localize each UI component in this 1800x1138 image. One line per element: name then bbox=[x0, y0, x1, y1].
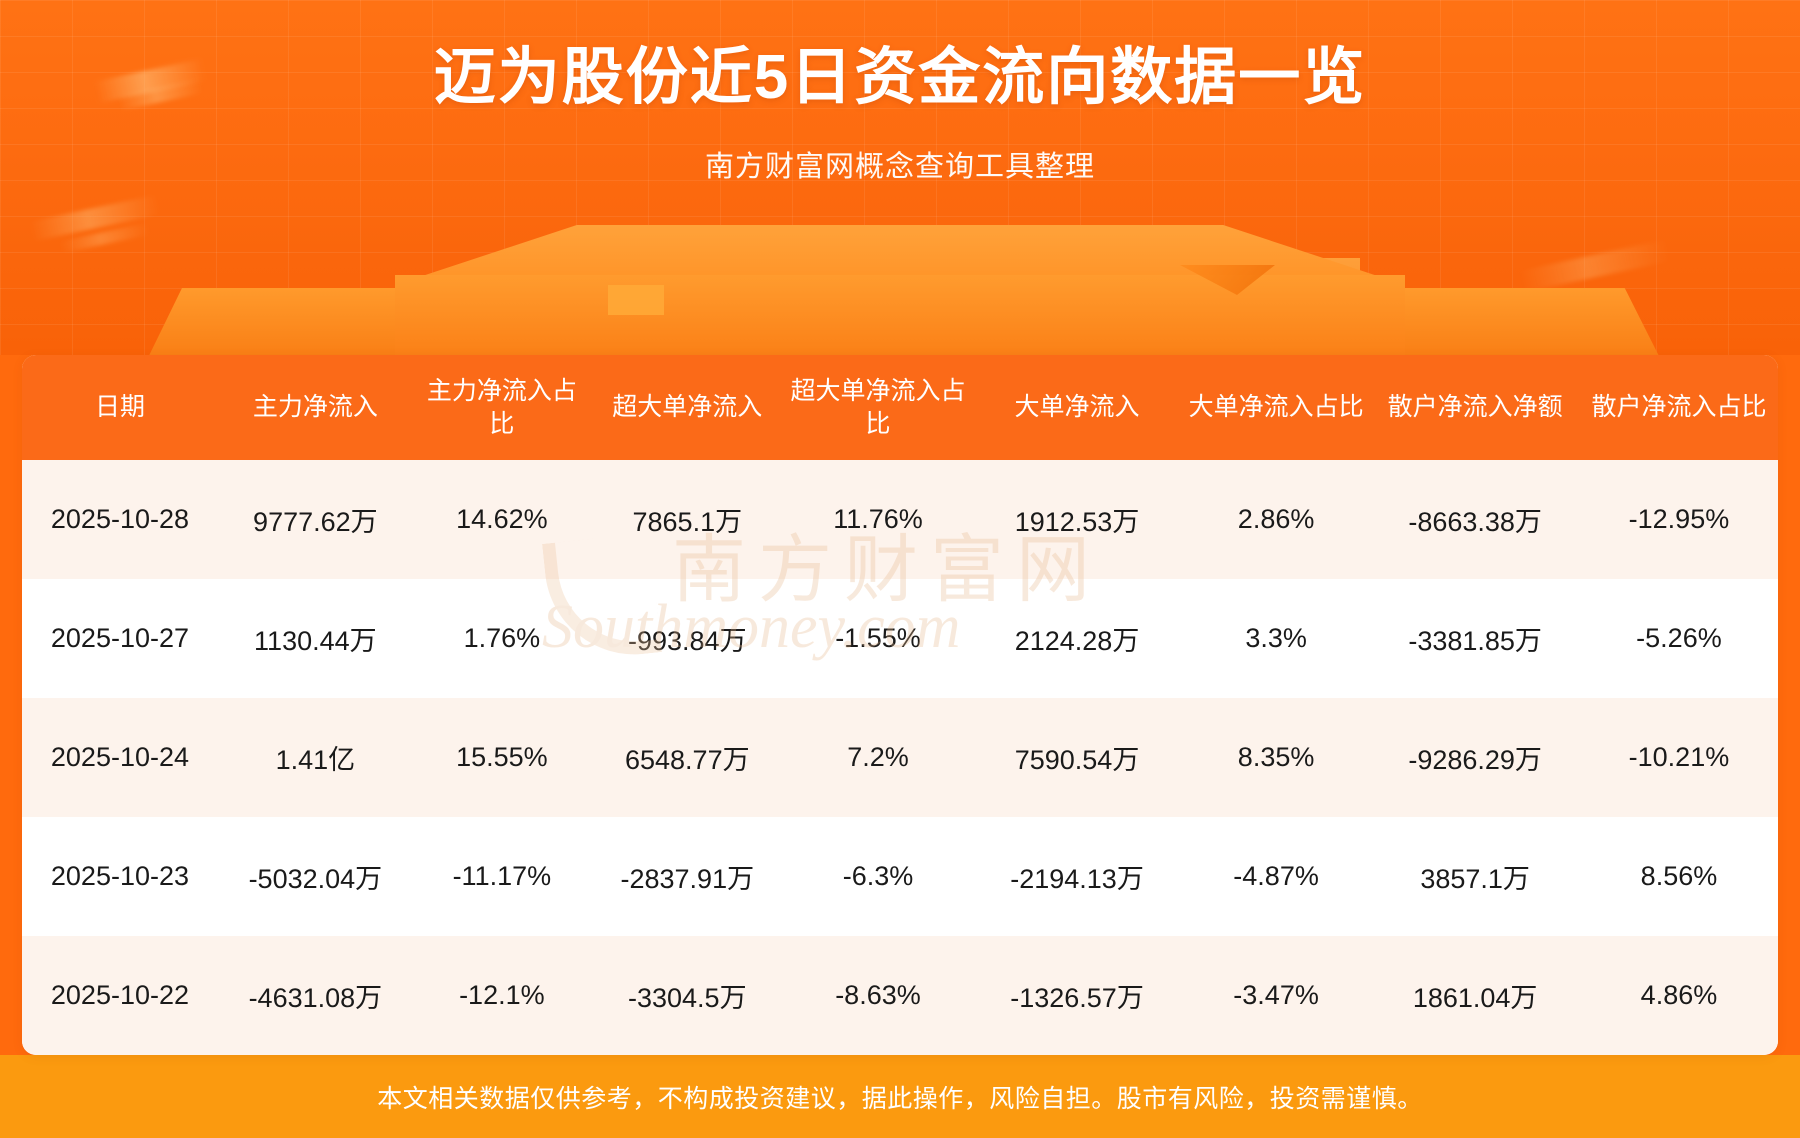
cell-super-large-net-inflow-pct: -8.63% bbox=[784, 936, 973, 1055]
column-header-main-net-inflow: 主力净流入 bbox=[218, 355, 413, 460]
column-header-super-large-net-inflow-pct: 超大单净流入占比 bbox=[784, 355, 973, 460]
cell-date: 2025-10-28 bbox=[22, 460, 218, 579]
cell-main-net-inflow-pct: 1.76% bbox=[413, 579, 591, 698]
podium-top-face bbox=[395, 275, 1405, 355]
cell-main-net-inflow-pct: -12.1% bbox=[413, 936, 591, 1055]
cell-main-net-inflow-pct: 14.62% bbox=[413, 460, 591, 579]
podium-block-right bbox=[1355, 288, 1665, 355]
cell-main-net-inflow: -4631.08万 bbox=[218, 936, 413, 1055]
table-row: 2025-10-28 9777.62万 14.62% 7865.1万 11.76… bbox=[22, 460, 1778, 579]
cell-super-large-net-inflow-pct: 7.2% bbox=[784, 698, 973, 817]
column-header-retail-net-inflow: 散户净流入净额 bbox=[1370, 355, 1580, 460]
cell-retail-net-inflow: -8663.38万 bbox=[1370, 460, 1580, 579]
cell-super-large-net-inflow: -993.84万 bbox=[591, 579, 784, 698]
column-header-super-large-net-inflow: 超大单净流入 bbox=[591, 355, 784, 460]
cell-main-net-inflow: -5032.04万 bbox=[218, 817, 413, 936]
table-header: 日期 主力净流入 主力净流入占比 超大单净流入 超大单净流入占比 大单净流入 大… bbox=[22, 355, 1778, 460]
cell-super-large-net-inflow: -2837.91万 bbox=[591, 817, 784, 936]
cell-large-net-inflow: 1912.53万 bbox=[972, 460, 1182, 579]
table-row: 2025-10-24 1.41亿 15.55% 6548.77万 7.2% 75… bbox=[22, 698, 1778, 817]
data-table-card: 南方财富网 Southmoney.com 日期 主力净流入 主力净流入占比 超大… bbox=[22, 355, 1778, 1055]
cell-super-large-net-inflow-pct: -6.3% bbox=[784, 817, 973, 936]
column-header-retail-net-inflow-pct: 散户净流入占比 bbox=[1580, 355, 1778, 460]
cell-large-net-inflow-pct: 2.86% bbox=[1182, 460, 1371, 579]
cell-large-net-inflow: -1326.57万 bbox=[972, 936, 1182, 1055]
cell-date: 2025-10-22 bbox=[22, 936, 218, 1055]
podium-notch-decoration bbox=[608, 285, 664, 315]
cell-retail-net-inflow: 1861.04万 bbox=[1370, 936, 1580, 1055]
footer-bar: 本文相关数据仅供参考，不构成投资建议，据此操作，风险自担。股市有风险，投资需谨慎… bbox=[0, 1055, 1800, 1138]
table-row: 2025-10-27 1130.44万 1.76% -993.84万 -1.55… bbox=[22, 579, 1778, 698]
cell-large-net-inflow-pct: 3.3% bbox=[1182, 579, 1371, 698]
cell-large-net-inflow-pct: 8.35% bbox=[1182, 698, 1371, 817]
cell-large-net-inflow-pct: -4.87% bbox=[1182, 817, 1371, 936]
light-streak-decoration bbox=[60, 223, 151, 253]
cell-large-net-inflow: 2124.28万 bbox=[972, 579, 1182, 698]
cell-super-large-net-inflow-pct: -1.55% bbox=[784, 579, 973, 698]
podium-block-left bbox=[143, 288, 443, 355]
podium-top-bevel bbox=[395, 225, 1405, 285]
column-header-large-net-inflow: 大单净流入 bbox=[972, 355, 1182, 460]
cell-date: 2025-10-23 bbox=[22, 817, 218, 936]
page-title: 迈为股份近5日资金流向数据一览 bbox=[0, 42, 1800, 113]
fund-flow-table: 日期 主力净流入 主力净流入占比 超大单净流入 超大单净流入占比 大单净流入 大… bbox=[22, 355, 1778, 1055]
cell-large-net-inflow-pct: -3.47% bbox=[1182, 936, 1371, 1055]
podium-block-mid-right bbox=[1190, 258, 1360, 355]
column-header-date: 日期 bbox=[22, 355, 218, 460]
cell-large-net-inflow: -2194.13万 bbox=[972, 817, 1182, 936]
column-header-main-net-inflow-pct: 主力净流入占比 bbox=[413, 355, 591, 460]
cell-retail-net-inflow-pct: -5.26% bbox=[1580, 579, 1778, 698]
cell-retail-net-inflow-pct: -10.21% bbox=[1580, 698, 1778, 817]
podium-block-mid-left bbox=[580, 285, 735, 355]
cell-main-net-inflow: 1.41亿 bbox=[218, 698, 413, 817]
cell-main-net-inflow: 9777.62万 bbox=[218, 460, 413, 579]
cell-large-net-inflow: 7590.54万 bbox=[972, 698, 1182, 817]
light-streak-decoration bbox=[29, 195, 160, 242]
hero-banner: 迈为股份近5日资金流向数据一览 南方财富网概念查询工具整理 bbox=[0, 0, 1800, 355]
table-row: 2025-10-23 -5032.04万 -11.17% -2837.91万 -… bbox=[22, 817, 1778, 936]
cell-main-net-inflow-pct: -11.17% bbox=[413, 817, 591, 936]
page-subtitle: 南方财富网概念查询工具整理 bbox=[0, 143, 1800, 185]
cell-super-large-net-inflow: 6548.77万 bbox=[591, 698, 784, 817]
cell-retail-net-inflow: -3381.85万 bbox=[1370, 579, 1580, 698]
light-streak-decoration bbox=[1519, 240, 1670, 293]
cell-date: 2025-10-24 bbox=[22, 698, 218, 817]
column-header-large-net-inflow-pct: 大单净流入占比 bbox=[1182, 355, 1371, 460]
cell-retail-net-inflow: 3857.1万 bbox=[1370, 817, 1580, 936]
podium-shard-decoration bbox=[1180, 265, 1275, 295]
cell-retail-net-inflow-pct: 4.86% bbox=[1580, 936, 1778, 1055]
cell-retail-net-inflow-pct: 8.56% bbox=[1580, 817, 1778, 936]
cell-retail-net-inflow-pct: -12.95% bbox=[1580, 460, 1778, 579]
cell-main-net-inflow: 1130.44万 bbox=[218, 579, 413, 698]
hero-title-group: 迈为股份近5日资金流向数据一览 南方财富网概念查询工具整理 bbox=[0, 0, 1800, 185]
cell-main-net-inflow-pct: 15.55% bbox=[413, 698, 591, 817]
cell-super-large-net-inflow-pct: 11.76% bbox=[784, 460, 973, 579]
cell-retail-net-inflow: -9286.29万 bbox=[1370, 698, 1580, 817]
table-header-row: 日期 主力净流入 主力净流入占比 超大单净流入 超大单净流入占比 大单净流入 大… bbox=[22, 355, 1778, 460]
light-streak-decoration bbox=[1190, 254, 1311, 295]
table-row: 2025-10-22 -4631.08万 -12.1% -3304.5万 -8.… bbox=[22, 936, 1778, 1055]
disclaimer-text: 本文相关数据仅供参考，不构成投资建议，据此操作，风险自担。股市有风险，投资需谨慎… bbox=[377, 1079, 1423, 1115]
cell-super-large-net-inflow: 7865.1万 bbox=[591, 460, 784, 579]
table-body: 2025-10-28 9777.62万 14.62% 7865.1万 11.76… bbox=[22, 460, 1778, 1055]
cell-super-large-net-inflow: -3304.5万 bbox=[591, 936, 784, 1055]
cell-date: 2025-10-27 bbox=[22, 579, 218, 698]
